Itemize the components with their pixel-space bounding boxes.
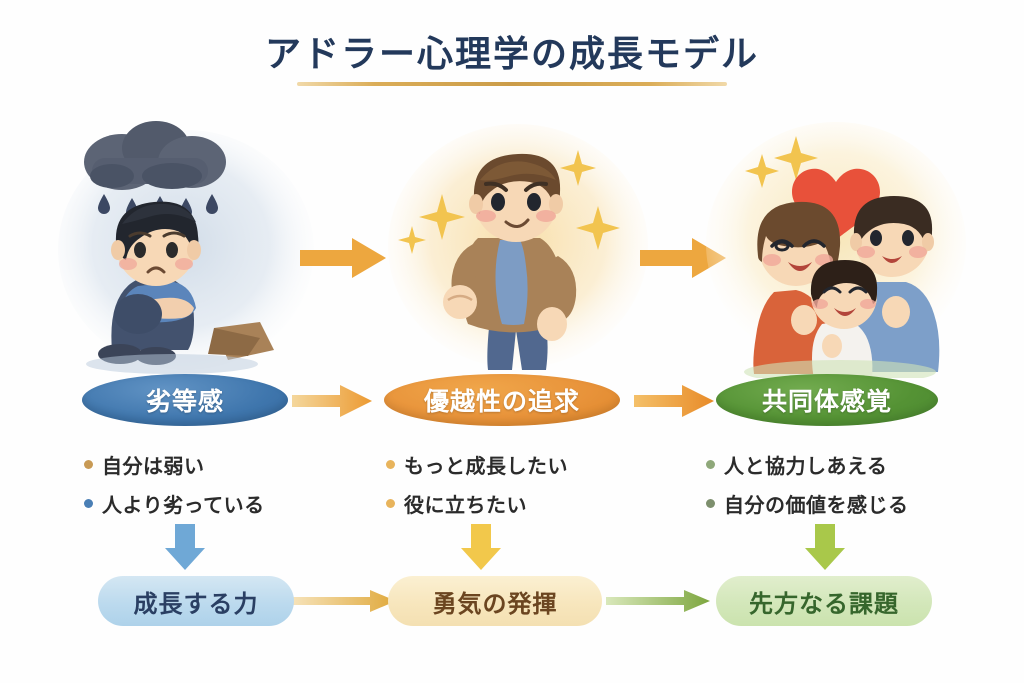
list-item: 自分は弱い (84, 450, 384, 479)
illustration-confident-boy-sparkles (382, 110, 654, 378)
bullet-text: 人より劣っている (102, 489, 265, 518)
bullet-text: 自分は弱い (102, 450, 205, 479)
list-item: 人より劣っている (84, 489, 384, 518)
bullet-dot-icon (386, 460, 395, 469)
bullet-text: 人と協力しあえる (724, 450, 887, 479)
stage-pill-striving-for-superiority[interactable]: 優越性の追求 (384, 374, 620, 426)
stage-pill-inferiority[interactable]: 劣等感 (82, 374, 288, 426)
arrow-inferiority-to-superiority (292, 385, 372, 417)
list-item: 自分の価値を感じる (706, 489, 1006, 518)
bullet-text: もっと成長したい (404, 450, 568, 479)
outcome-pill-label: 先方なる課題 (749, 584, 899, 619)
stage-pill-label: 劣等感 (146, 382, 224, 418)
stage-pill-community-feeling[interactable]: 共同体感覚 (716, 374, 938, 426)
arrow-down-to-outcome-1 (163, 524, 207, 570)
stage-pill-label: 優越性の追求 (424, 382, 580, 418)
outcome-pill-task[interactable]: 先方なる課題 (716, 576, 932, 626)
arrow-down-to-outcome-3 (803, 524, 847, 570)
arrow-down-to-outcome-2 (459, 524, 503, 570)
arrow-outcome2-to-outcome3 (606, 590, 710, 612)
outcome-pill-label: 勇気の発揮 (433, 584, 558, 619)
title-underline (297, 82, 727, 86)
bullet-dot-icon (706, 499, 715, 508)
title-block: アドラー心理学の成長モデル (0, 34, 1024, 86)
outcome-pill-growth-power[interactable]: 成長する力 (98, 576, 294, 626)
list-item: もっと成長したい (386, 450, 686, 479)
bullet-list-community-feeling: 人と協力しあえる 自分の価値を感じる (706, 450, 1006, 528)
arrow-stage1-to-stage2-illustration (300, 238, 386, 278)
bullet-dot-icon (386, 499, 395, 508)
illustration-happy-family-heart (700, 110, 972, 378)
arrow-outcome1-to-outcome2 (292, 590, 396, 612)
page-title: アドラー心理学の成長モデル (259, 34, 765, 82)
bullet-list-inferiority: 自分は弱い 人より劣っている (84, 450, 384, 528)
outcome-pill-label: 成長する力 (134, 584, 259, 619)
bullet-list-striving-for-superiority: もっと成長したい 役に立ちたい (386, 450, 686, 528)
bullet-dot-icon (84, 499, 93, 508)
bullet-dot-icon (706, 460, 715, 469)
arrow-superiority-to-community (634, 385, 714, 417)
diagram-canvas: アドラー心理学の成長モデル (0, 0, 1024, 683)
bullet-text: 自分の価値を感じる (724, 489, 909, 518)
outcome-pill-courage[interactable]: 勇気の発揮 (388, 576, 602, 626)
stage-pill-label: 共同体感覚 (762, 382, 892, 418)
bullet-dot-icon (84, 460, 93, 469)
bullet-text: 役に立ちたい (404, 489, 527, 518)
illustration-sad-boy-rain-cloud (52, 110, 324, 378)
list-item: 人と協力しあえる (706, 450, 1006, 479)
list-item: 役に立ちたい (386, 489, 686, 518)
